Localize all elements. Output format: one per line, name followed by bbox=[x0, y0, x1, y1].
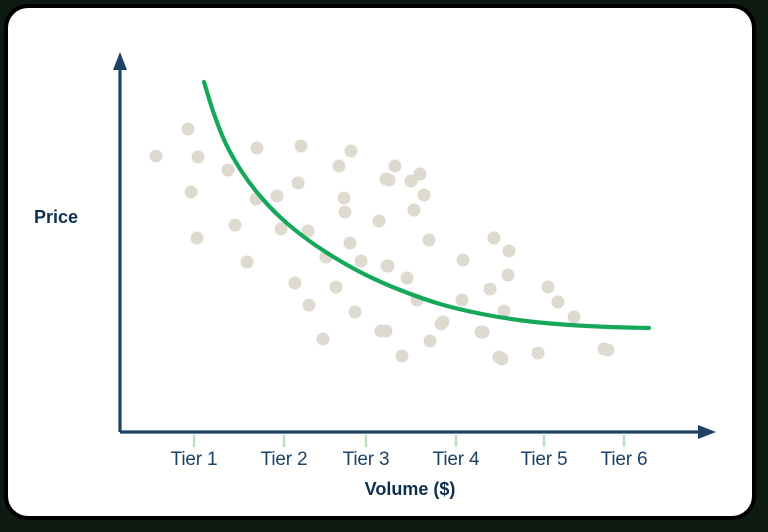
scatter-point bbox=[488, 232, 501, 245]
scatter-point bbox=[503, 245, 516, 258]
chart-area: Tier 1Tier 2Tier 3Tier 4Tier 5Tier 6 Vol… bbox=[8, 8, 752, 516]
y-axis bbox=[113, 52, 127, 432]
scatter-point bbox=[295, 140, 308, 153]
scatter-point bbox=[456, 294, 469, 307]
price-trend-curve bbox=[204, 82, 649, 328]
x-axis-title: Volume ($) bbox=[365, 479, 456, 499]
scatter-point bbox=[496, 353, 509, 366]
scatter-point bbox=[289, 277, 302, 290]
x-axis-ticks bbox=[194, 435, 624, 447]
scatter-point bbox=[222, 164, 235, 177]
x-tick-label-1: Tier 1 bbox=[171, 449, 218, 470]
scatter-point bbox=[330, 281, 343, 294]
scatter-point bbox=[437, 316, 450, 329]
scatter-point bbox=[355, 255, 368, 268]
scatter-point bbox=[418, 189, 431, 202]
scatter-point bbox=[382, 260, 395, 273]
scatter-point bbox=[373, 215, 386, 228]
scatter-point bbox=[345, 145, 358, 158]
scatter-point bbox=[568, 311, 581, 324]
scatter-point bbox=[192, 151, 205, 164]
scatter-point bbox=[333, 160, 346, 173]
scatter-point bbox=[380, 325, 393, 338]
scatter-point bbox=[251, 142, 264, 155]
scatter-point bbox=[303, 299, 316, 312]
scatter-point bbox=[344, 237, 357, 250]
scatter-point bbox=[271, 190, 284, 203]
x-axis-arrow-icon bbox=[698, 425, 716, 439]
x-axis-tick-labels: Tier 1Tier 2Tier 3Tier 4Tier 5Tier 6 bbox=[171, 449, 648, 470]
x-axis bbox=[120, 425, 716, 439]
y-axis-title: Price bbox=[34, 207, 78, 227]
scatter-point bbox=[339, 206, 352, 219]
scatter-point bbox=[423, 234, 436, 247]
scatter-point bbox=[229, 219, 242, 232]
scatter-point bbox=[552, 296, 565, 309]
scatter-point bbox=[389, 160, 402, 173]
scatter-point bbox=[401, 272, 414, 285]
scatter-point bbox=[542, 281, 555, 294]
scatter-point bbox=[338, 192, 351, 205]
x-tick-label-6: Tier 6 bbox=[601, 449, 648, 470]
scatter-point bbox=[602, 344, 615, 357]
scatter-point bbox=[484, 283, 497, 296]
scatter-point bbox=[241, 256, 254, 269]
screenshot-root: Tier 1Tier 2Tier 3Tier 4Tier 5Tier 6 Vol… bbox=[0, 0, 768, 532]
scatter-point bbox=[457, 254, 470, 267]
scatter-point bbox=[292, 177, 305, 190]
y-axis-arrow-icon bbox=[113, 52, 127, 70]
scatter-point bbox=[424, 335, 437, 348]
x-tick-label-5: Tier 5 bbox=[521, 449, 568, 470]
scatter-point bbox=[532, 347, 545, 360]
scatter-point bbox=[150, 150, 163, 163]
scatter-point bbox=[191, 232, 204, 245]
scatter-point bbox=[408, 204, 421, 217]
scatter-point bbox=[477, 326, 490, 339]
scatter-point bbox=[349, 306, 362, 319]
scatter-point bbox=[502, 269, 515, 282]
volume-price-scatter-chart: Tier 1Tier 2Tier 3Tier 4Tier 5Tier 6 Vol… bbox=[4, 4, 756, 520]
scatter-point bbox=[396, 350, 409, 363]
x-tick-label-2: Tier 2 bbox=[261, 449, 308, 470]
scatter-points-group bbox=[150, 123, 615, 366]
chart-card: Tier 1Tier 2Tier 3Tier 4Tier 5Tier 6 Vol… bbox=[4, 4, 756, 520]
scatter-point bbox=[317, 333, 330, 346]
scatter-point bbox=[182, 123, 195, 136]
scatter-point bbox=[414, 168, 427, 181]
x-tick-label-4: Tier 4 bbox=[433, 449, 480, 470]
scatter-point bbox=[383, 174, 396, 187]
scatter-point bbox=[185, 186, 198, 199]
x-tick-label-3: Tier 3 bbox=[343, 449, 390, 470]
